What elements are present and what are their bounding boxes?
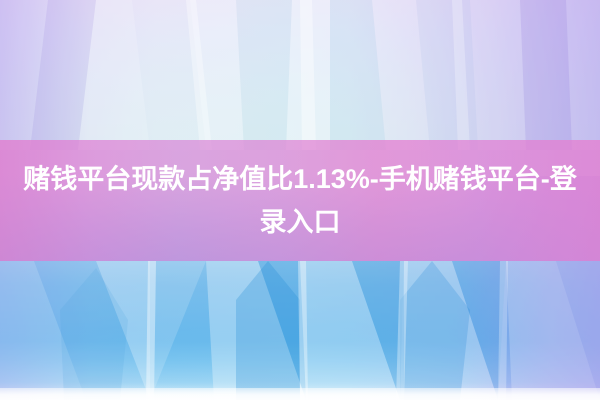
promo-banner: 赌钱平台现款占净值比1.13%-手机赌钱平台-登录入口 xyxy=(0,0,600,400)
facet-group-top xyxy=(0,0,600,150)
page-title: 赌钱平台现款占净值比1.13%-手机赌钱平台-登录入口 xyxy=(18,158,582,244)
bottom-strip xyxy=(0,388,600,400)
title-band: 赌钱平台现款占净值比1.13%-手机赌钱平台-登录入口 xyxy=(0,140,600,261)
